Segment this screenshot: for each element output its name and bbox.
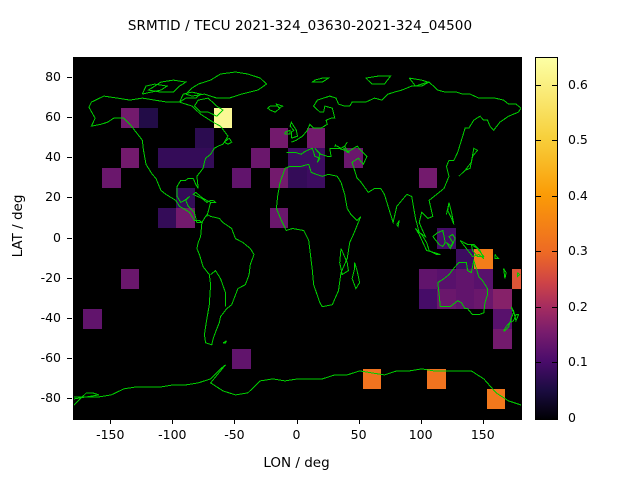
x-tick-label: -100 bbox=[142, 427, 202, 442]
coastline-path bbox=[517, 273, 520, 277]
coastline-path bbox=[276, 164, 360, 306]
y-tick-mark bbox=[67, 318, 72, 319]
colorbar-tick-label: 0 bbox=[568, 410, 576, 425]
coastline-path bbox=[291, 82, 521, 142]
x-tick-mark bbox=[483, 419, 484, 424]
x-tick-mark bbox=[110, 419, 111, 424]
coastline-path bbox=[447, 235, 456, 249]
coastline-path bbox=[459, 148, 478, 176]
coastline-path bbox=[89, 96, 228, 222]
colorbar-tick-mark bbox=[552, 251, 557, 252]
coastline-path bbox=[197, 214, 254, 344]
coastline-path bbox=[285, 130, 290, 134]
coastline-path bbox=[194, 98, 223, 116]
colorbar-tick-mark bbox=[536, 85, 541, 86]
coastline-path bbox=[397, 221, 400, 227]
coastline-path bbox=[211, 271, 226, 307]
coastline-path bbox=[312, 78, 328, 82]
colorbar-tick-mark bbox=[552, 85, 557, 86]
y-tick-mark bbox=[67, 157, 72, 158]
y-tick-mark bbox=[67, 358, 72, 359]
x-axis-label: LON / deg bbox=[73, 455, 520, 471]
coastline-path bbox=[447, 202, 454, 224]
coastline-path bbox=[433, 231, 446, 247]
coastline-path bbox=[186, 72, 267, 98]
chart-title: SRMTID / TECU 2021-324_03630-2021-324_04… bbox=[0, 18, 600, 34]
x-tick-mark bbox=[297, 419, 298, 424]
colorbar-tick-label: 0.4 bbox=[568, 188, 588, 203]
y-tick-mark bbox=[67, 398, 72, 399]
x-tick-mark bbox=[359, 419, 360, 424]
y-tick-label: 0 bbox=[15, 230, 61, 245]
y-tick-label: -20 bbox=[15, 270, 61, 285]
coastline-path bbox=[340, 249, 349, 275]
colorbar-tick-mark bbox=[536, 196, 541, 197]
y-tick-label: 60 bbox=[15, 109, 61, 124]
coastline-path bbox=[343, 108, 521, 236]
x-tick-label: 50 bbox=[329, 427, 389, 442]
coastline-path bbox=[366, 76, 391, 84]
coastline-path bbox=[74, 365, 521, 405]
y-tick-label: 80 bbox=[15, 69, 61, 84]
x-tick-mark bbox=[172, 419, 173, 424]
colorbar-tick-mark bbox=[552, 196, 557, 197]
colorbar-tick-label: 0.1 bbox=[568, 354, 588, 369]
y-tick-mark bbox=[67, 197, 72, 198]
coastline-path bbox=[224, 138, 232, 144]
colorbar-tick-mark bbox=[536, 140, 541, 141]
colorbar-tick-mark bbox=[536, 362, 541, 363]
y-tick-mark bbox=[67, 278, 72, 279]
colorbar-tick-label: 0.2 bbox=[568, 299, 588, 314]
coastline-path bbox=[438, 261, 488, 315]
y-tick-mark bbox=[67, 117, 72, 118]
coastline-layer bbox=[74, 58, 521, 419]
coastline-path bbox=[286, 142, 348, 162]
x-tick-mark bbox=[234, 419, 235, 424]
colorbar[interactable] bbox=[535, 57, 558, 420]
map-plot-area[interactable] bbox=[73, 57, 522, 420]
x-tick-label: 150 bbox=[453, 427, 513, 442]
colorbar-tick-mark bbox=[552, 362, 557, 363]
coastline-path bbox=[193, 192, 215, 216]
colorbar-tick-mark bbox=[536, 251, 541, 252]
x-tick-mark bbox=[421, 419, 422, 424]
x-tick-label: 0 bbox=[267, 427, 327, 442]
coastline-path bbox=[276, 104, 282, 108]
coastline-path bbox=[290, 122, 297, 138]
x-tick-label: -50 bbox=[204, 427, 264, 442]
coastline-path bbox=[504, 269, 507, 279]
y-tick-label: -40 bbox=[15, 310, 61, 325]
colorbar-gradient bbox=[536, 58, 557, 419]
coastline-path bbox=[409, 78, 428, 86]
colorbar-tick-label: 0.3 bbox=[568, 243, 588, 258]
y-tick-mark bbox=[67, 77, 72, 78]
colorbar-tick-mark bbox=[552, 418, 557, 419]
colorbar-tick-mark bbox=[552, 140, 557, 141]
colorbar-tick-label: 0.5 bbox=[568, 132, 588, 147]
x-tick-label: -150 bbox=[80, 427, 140, 442]
colorbar-tick-mark bbox=[536, 418, 541, 419]
colorbar-tick-label: 0.6 bbox=[568, 77, 588, 92]
coastline-path bbox=[223, 341, 227, 343]
y-tick-label: 40 bbox=[15, 149, 61, 164]
coastline-path bbox=[352, 263, 360, 289]
y-tick-label: -60 bbox=[15, 350, 61, 365]
y-tick-label: -80 bbox=[15, 390, 61, 405]
y-tick-mark bbox=[67, 238, 72, 239]
colorbar-tick-mark bbox=[536, 307, 541, 308]
y-tick-label: 20 bbox=[15, 189, 61, 204]
colorbar-tick-mark bbox=[552, 307, 557, 308]
coastline-path bbox=[495, 255, 499, 259]
figure-root: SRMTID / TECU 2021-324_03630-2021-324_04… bbox=[0, 0, 640, 480]
x-tick-label: 100 bbox=[391, 427, 451, 442]
coastline-path bbox=[74, 393, 99, 405]
coastline-path bbox=[504, 307, 519, 331]
